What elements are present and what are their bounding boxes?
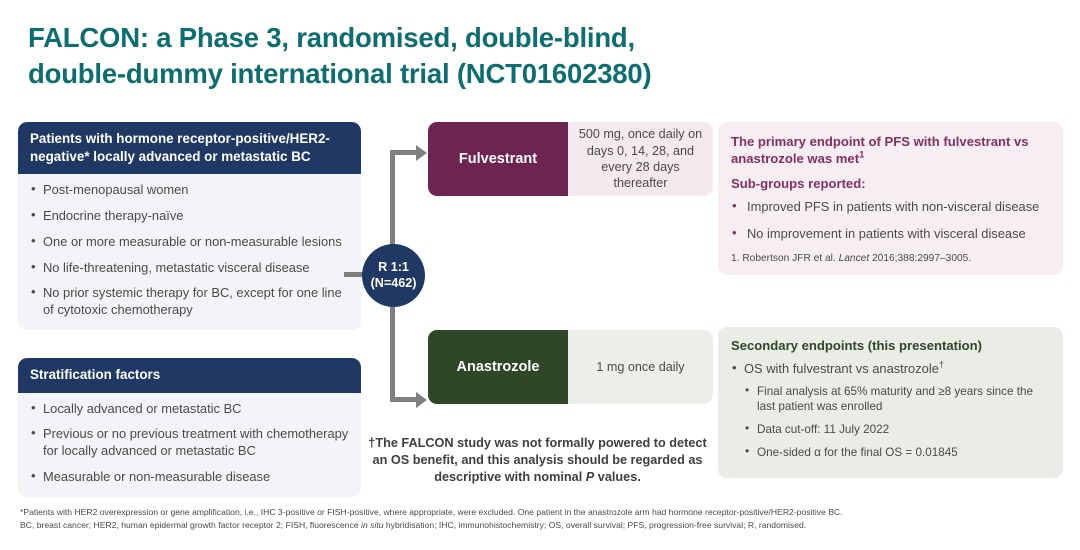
- arm-name-anastrozole: Anastrozole: [428, 330, 568, 404]
- secondary-endpoints-title: Secondary endpoints (this presentation): [731, 338, 1050, 353]
- stratification-panel-body: Locally advanced or metastatic BC Previo…: [18, 393, 361, 497]
- reference-prefix: 1. Robertson JFR et al.: [731, 253, 839, 264]
- list-item: Measurable or non-measurable disease: [30, 469, 349, 486]
- primary-endpoint-title-text: The primary endpoint of PFS with fulvest…: [731, 134, 1029, 166]
- stratification-panel: Stratification factors Locally advanced …: [18, 358, 361, 497]
- dagger-footnote-part1: †The FALCON study was not formally power…: [368, 436, 706, 484]
- list-item: Endocrine therapy-naïve: [30, 208, 349, 225]
- subgroups-list: Improved PFS in patients with non-viscer…: [731, 199, 1050, 243]
- primary-endpoint-title: The primary endpoint of PFS with fulvest…: [731, 133, 1050, 167]
- list-item: No improvement in patients with visceral…: [731, 226, 1050, 243]
- dagger-footnote-part2: values.: [594, 470, 641, 484]
- secondary-main-item-superscript: †: [939, 360, 944, 370]
- patients-criteria-list: Post-menopausal women Endocrine therapy-…: [30, 182, 349, 319]
- footnote-line-1: *Patients with HER2 overexpression or ge…: [20, 506, 1065, 519]
- primary-endpoint-panel: The primary endpoint of PFS with fulvest…: [718, 122, 1063, 275]
- randomisation-node: R 1:1 (N=462): [362, 244, 425, 307]
- connector-horizontal-down: [390, 397, 418, 402]
- stratification-panel-heading: Stratification factors: [18, 358, 361, 393]
- dagger-footnote-italic: P: [586, 470, 594, 484]
- treatment-arm-anastrozole: Anastrozole 1 mg once daily: [428, 330, 713, 404]
- footnotes: *Patients with HER2 overexpression or ge…: [20, 506, 1065, 533]
- list-item: No life-threatening, metastatic visceral…: [30, 260, 349, 277]
- secondary-endpoints-sublist: Final analysis at 65% maturity and ≥8 ye…: [744, 384, 1050, 461]
- stratification-factors-list: Locally advanced or metastatic BC Previo…: [30, 401, 349, 486]
- list-item: No prior systemic therapy for BC, except…: [30, 285, 349, 319]
- arm-name-fulvestrant: Fulvestrant: [428, 122, 568, 196]
- randomisation-ratio: R 1:1: [378, 260, 409, 275]
- list-item: Locally advanced or metastatic BC: [30, 401, 349, 418]
- page-title-line-2: double-dummy international trial (NCT016…: [28, 56, 1048, 92]
- list-item: One or more measurable or non-measurable…: [30, 234, 349, 251]
- arm-dose-anastrozole: 1 mg once daily: [568, 330, 713, 404]
- secondary-endpoints-list: OS with fulvestrant vs anastrozole† Fina…: [731, 361, 1050, 461]
- list-item: One-sided α for the final OS = 0.01845: [744, 445, 1050, 460]
- connector-horizontal-up: [390, 150, 418, 155]
- patients-panel-heading: Patients with hormone receptor-positive/…: [18, 122, 361, 174]
- list-item: Previous or no previous treatment with c…: [30, 426, 349, 460]
- trial-flow-diagram: R 1:1 (N=462) Fulvestrant 500 mg, once d…: [340, 122, 720, 502]
- arrow-right-icon: [416, 145, 427, 161]
- connector-stub-left: [344, 272, 364, 277]
- reference-suffix: 2016;388:2997–3005.: [869, 253, 971, 264]
- treatment-arm-fulvestrant: Fulvestrant 500 mg, once daily on days 0…: [428, 122, 713, 196]
- footnote-line-2-part1: BC, breast cancer; HER2, human epidermal…: [20, 520, 361, 530]
- arrow-right-icon: [416, 392, 427, 408]
- footnote-line-2: BC, breast cancer; HER2, human epidermal…: [20, 519, 1065, 532]
- secondary-endpoints-panel: Secondary endpoints (this presentation) …: [718, 327, 1063, 478]
- list-item: Data cut-off: 11 July 2022: [744, 422, 1050, 437]
- page-title: FALCON: a Phase 3, randomised, double-bl…: [28, 20, 1048, 92]
- list-item: Final analysis at 65% maturity and ≥8 ye…: [744, 384, 1050, 414]
- footnote-line-2-italic: in situ: [361, 520, 383, 530]
- reference-journal: Lancet: [839, 253, 870, 264]
- randomisation-count: (N=462): [371, 276, 417, 291]
- list-item: OS with fulvestrant vs anastrozole† Fina…: [731, 361, 1050, 461]
- patients-panel: Patients with hormone receptor-positive/…: [18, 122, 361, 330]
- arm-dose-fulvestrant: 500 mg, once daily on days 0, 14, 28, an…: [568, 122, 713, 196]
- primary-endpoint-title-superscript: 1: [859, 149, 864, 160]
- reference-citation: 1. Robertson JFR et al. Lancet 2016;388:…: [731, 253, 1050, 266]
- page-title-line-1: FALCON: a Phase 3, randomised, double-bl…: [28, 22, 635, 53]
- subgroups-label: Sub-groups reported:: [731, 176, 1050, 191]
- secondary-main-item-text: OS with fulvestrant vs anastrozole: [744, 361, 939, 376]
- list-item: Improved PFS in patients with non-viscer…: [731, 199, 1050, 216]
- list-item: Post-menopausal women: [30, 182, 349, 199]
- patients-panel-body: Post-menopausal women Endocrine therapy-…: [18, 174, 361, 330]
- footnote-line-2-part2: hybridisation; IHC, immunohistochemistry…: [384, 520, 807, 530]
- dagger-footnote: †The FALCON study was not formally power…: [365, 435, 710, 486]
